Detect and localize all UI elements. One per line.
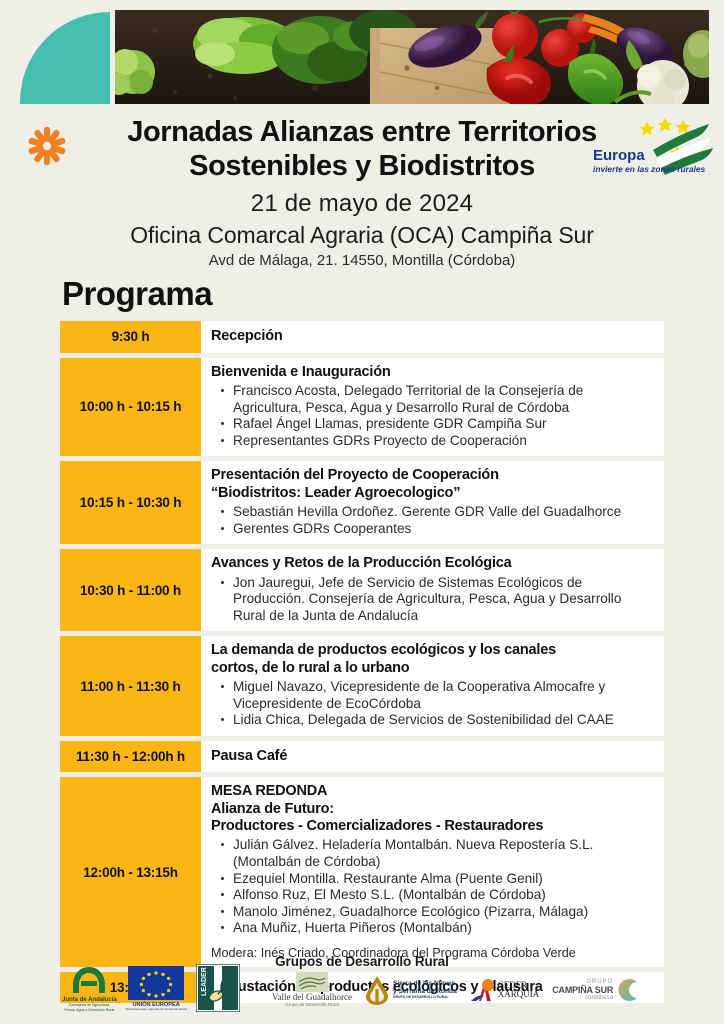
title-line-2: Sostenibles y Biodistritos [189,150,535,182]
sierra-caption: Sierra de las Nievesy Serranía de Ronda [393,980,457,995]
program-row-time: 10:15 h - 10:30 h [60,461,201,544]
program-row-bullets: Julián Gálvez. Heladería Montalbán. Nuev… [211,837,654,936]
sierra-nieves-ronda-logo: Sierra de las Nievesy Serranía de Ronda … [365,975,457,1005]
program-title-line: Productores - Comercializadores - Restau… [211,818,654,835]
program-row-time: 11:30 h - 12:00h h [60,741,201,772]
junta-sub: Consejería de Agricultura,Pesca, Agua y … [64,1003,114,1012]
program-row-description: Recepción [201,321,664,352]
program-row-title: Pausa Café [211,748,287,765]
leader-logo: LEADER [196,964,240,1012]
program-title-line: MESA REDONDA [211,783,654,800]
program-title-line: Avances y Retos de la Producción Ecológi… [211,555,654,572]
program-title-line: Recepción [211,328,283,345]
program-row-time: 9:30 h [60,321,201,352]
programa-heading: Programa [62,275,724,313]
program-row-title: La demanda de productos ecológicos y los… [211,642,654,677]
program-title-line: “Biodistritos: Leader Agroecologico” [211,485,654,502]
union-europea-logo: UNIÓN EUROPEA Fondo Europeo Agrícola de … [126,966,187,1012]
program-title-line: Pausa Café [211,748,287,765]
leader-wordmark: LEADER [201,967,208,996]
program-row-title: MESA REDONDAAlianza de Futuro:Productore… [211,783,654,835]
title-line-1: Jornadas Alianzas entre Territorios [127,116,597,148]
program-row-bullets: Francisco Acosta, Delegado Territorial d… [211,383,654,449]
valle-del-guadalhorce-logo: Valle del Guadalhorce Grupo de Desarroll… [272,972,352,1007]
program-row: 10:15 h - 10:30 hPresentación del Proyec… [60,461,664,544]
program-row-title: Presentación del Proyecto de Cooperación… [211,467,654,502]
program-title-line: La demanda de productos ecológicos y los… [211,642,654,659]
program-row-description: Bienvenida e InauguraciónFrancisco Acost… [201,358,664,457]
program-bullet-item: Jon Jauregui, Jefe de Servicio de Sistem… [231,575,654,625]
gdr-logos: Valle del Guadalhorce Grupo de Desarroll… [272,972,642,1007]
program-title-line: Alianza de Futuro: [211,801,654,818]
program-row-description: Pausa Café [201,741,664,772]
campina-sur-logo: GRUPO CAMPIÑA SUR cordobesa [552,975,642,1005]
program-bullet-item: Representantes GDRs Proyecto de Cooperac… [231,433,654,450]
ceder-caption: CEDERXARQUIA [498,981,540,999]
program-row-bullets: Jon Jauregui, Jefe de Servicio de Sistem… [211,575,654,625]
europa-logo: Europa invierte en las zonas rurales [591,116,716,178]
ceder-axarquia-logo: CEDERXARQUIA [470,978,540,1002]
valle-sub: Grupo de Desarrollo Rural [285,1002,339,1007]
program-bullet-item: Ezequiel Montilla. Restaurante Alma (Pue… [231,871,654,888]
union-europea-sub: Fondo Europeo Agrícola de Desarrollo Rur… [126,1008,187,1012]
program-row-time: 10:30 h - 11:00 h [60,549,201,631]
program-row: 11:30 h - 12:00h hPausa Café [60,741,664,772]
program-title-line: cortos, de lo rural a lo urbano [211,660,654,677]
program-bullet-item: Alfonso Ruz, El Mesto S.L. (Montalbán de… [231,887,654,904]
program-bullet-item: Rafael Ángel Llamas, presidente GDR Camp… [231,416,654,433]
junta-caption: Junta de Andalucía [62,996,117,1003]
program-row: 10:30 h - 11:00 hAvances y Retos de la P… [60,549,664,631]
program-row-time: 10:00 h - 10:15 h [60,358,201,457]
program-bullet-item: Miguel Navazo, Vicepresidente de la Coop… [231,679,654,712]
program-row-description: Avances y Retos de la Producción Ecológi… [201,549,664,631]
event-date: 21 de mayo de 2024 [0,190,724,218]
program-bullet-item: Gerentes GDRs Cooperantes [231,521,654,538]
svg-text:invierte en las zonas rurales: invierte en las zonas rurales [593,164,706,174]
program-row: 9:30 hRecepción [60,321,664,352]
program-table: 9:30 hRecepción10:00 h - 10:15 hBienveni… [60,321,664,1003]
program-bullet-item: Francisco Acosta, Delegado Territorial d… [231,383,654,416]
institutional-logos: Junta de Andalucía Consejería de Agricul… [62,964,240,1012]
flower-icon [27,126,67,166]
program-row-time: 11:00 h - 11:30 h [60,636,201,736]
program-row-description: La demanda de productos ecológicos y los… [201,636,664,736]
footer: Grupos de Desarrollo Rural Junta de Anda… [0,952,724,1024]
svg-text:Europa: Europa [593,147,645,164]
campina-caption: CAMPIÑA SUR [552,985,613,995]
program-bullet-item: Manolo Jiménez, Guadalhorce Ecológico (P… [231,904,654,921]
program-bullet-item: Ana Muñiz, Huerta Piñeros (Montalbán) [231,920,654,937]
teal-decoration-shape [20,12,110,104]
program-row: 10:00 h - 10:15 hBienvenida e Inauguraci… [60,358,664,457]
sierra-sub: GRUPO DE DESARROLLO RURAL [393,995,457,999]
program-title-line: Presentación del Proyecto de Cooperación [211,467,654,484]
program-title-line: Bienvenida e Inauguración [211,364,654,381]
program-row-description: Presentación del Proyecto de Cooperación… [201,461,664,544]
program-row: 12:00h - 13:15hMESA REDONDAAlianza de Fu… [60,777,664,967]
program-row: 11:00 h - 11:30 hLa demanda de productos… [60,636,664,736]
program-row-description: MESA REDONDAAlianza de Futuro:Productore… [201,777,664,967]
hero-vegetables-photo [115,10,709,104]
program-row-title: Bienvenida e Inauguración [211,364,654,381]
program-row-bullets: Miguel Navazo, Vicepresidente de la Coop… [211,679,654,729]
event-venue: Oficina Comarcal Agraria (OCA) Campiña S… [0,222,724,249]
program-row-bullets: Sebastián Hevilla Ordoñez. Gerente GDR V… [211,504,654,537]
junta-de-andalucia-logo: Junta de Andalucía Consejería de Agricul… [62,965,117,1012]
program-bullet-item: Julián Gálvez. Heladería Montalbán. Nuev… [231,837,654,870]
title-block: Europa invierte en las zonas rurales Jor… [0,108,724,313]
program-bullet-item: Sebastián Hevilla Ordoñez. Gerente GDR V… [231,504,654,521]
program-bullet-item: Lidia Chica, Delegada de Servicios de So… [231,712,654,729]
program-row-title: Avances y Retos de la Producción Ecológi… [211,555,654,572]
valle-caption: Valle del Guadalhorce [272,992,352,1002]
campina-bottom: cordobesa [552,995,613,1001]
header-banner [0,0,724,108]
event-address: Avd de Málaga, 21. 14550, Montilla (Córd… [0,252,724,269]
page-title: Jornadas Alianzas entre Territorios Sost… [82,116,642,183]
program-row-title: Recepción [211,328,283,345]
program-row-time: 12:00h - 13:15h [60,777,201,967]
